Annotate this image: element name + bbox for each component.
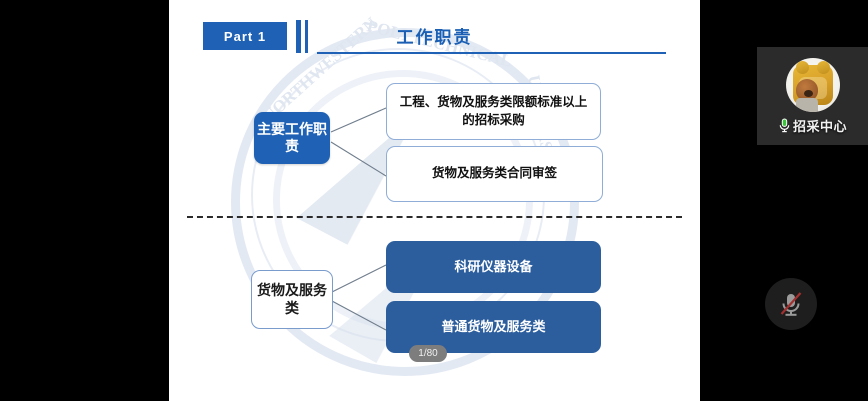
- microphone-mute-button[interactable]: [765, 278, 817, 330]
- bear-ear-left-icon: [796, 61, 809, 74]
- title-underline: [317, 52, 666, 54]
- fox-snout-icon: [804, 90, 813, 97]
- page-indicator: 1/80: [409, 345, 447, 362]
- participant-video-tile[interactable]: 招采中心: [757, 47, 868, 145]
- bear-ear-right-icon: [817, 61, 830, 74]
- category-item-research-equipment: 科研仪器设备: [386, 241, 601, 293]
- microphone-on-icon: [778, 118, 791, 133]
- duty-item-contract-review: 货物及服务类合同审签: [386, 146, 603, 202]
- slide-title: 工作职责: [169, 23, 700, 48]
- group-label-goods-services: 货物及服务类: [251, 270, 333, 329]
- meeting-screen-share-view: NORTHWESTERN POLYTECHNICAL UNIVERSITY Pa…: [0, 0, 868, 401]
- duty-item-tender-procurement: 工程、货物及服务类限额标准以上的招标采购: [386, 83, 601, 140]
- section-divider: [187, 216, 682, 218]
- presentation-slide: NORTHWESTERN POLYTECHNICAL UNIVERSITY Pa…: [169, 0, 700, 401]
- participant-name: 招采中心: [793, 116, 847, 135]
- participant-name-row: 招采中心: [757, 113, 868, 137]
- avatar: [786, 58, 840, 112]
- avatar-body-icon: [796, 98, 818, 112]
- group-label-main-duties: 主要工作职责: [254, 112, 330, 164]
- microphone-muted-icon: [776, 289, 806, 319]
